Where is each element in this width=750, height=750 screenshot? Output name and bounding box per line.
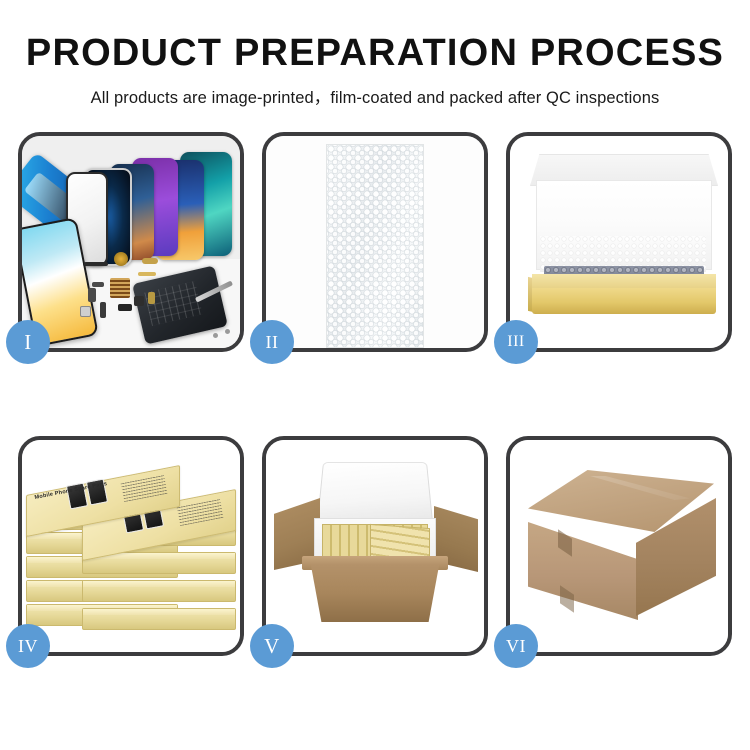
spare-part-screw-a-icon <box>225 329 230 334</box>
process-step-grid: I <box>0 132 750 656</box>
bubble-wrap-texture <box>327 145 423 347</box>
step-1-image <box>22 136 240 348</box>
box-lid-edge <box>83 581 235 587</box>
box-stack: Mobile Phone Spare Parts Mobile Phone Sp… <box>26 462 240 644</box>
process-step-panel-1[interactable]: I <box>18 132 244 352</box>
spare-part-bracket-icon <box>88 288 96 302</box>
step-6-image <box>510 440 728 652</box>
step-badge-4: IV <box>6 624 50 668</box>
spare-part-clip-icon <box>92 282 104 287</box>
page-title: PRODUCT PREPARATION PROCESS <box>0 34 750 74</box>
process-step-panel-3[interactable]: III <box>506 132 732 352</box>
step-badge-6: VI <box>494 624 538 668</box>
spare-part-tray-icon <box>80 306 91 317</box>
step-badge-2: II <box>250 320 294 364</box>
step-3-image <box>510 136 728 348</box>
spare-part-connector-icon <box>148 292 155 304</box>
spare-part-chip-icon <box>134 296 144 306</box>
step-2-image <box>266 136 484 348</box>
tray-front-face <box>532 288 716 314</box>
carton-body <box>308 564 442 622</box>
foam-lid <box>317 462 434 525</box>
step-badge-5: V <box>250 624 294 668</box>
spare-part-grid-icon <box>110 278 130 298</box>
spare-part-pin-icon <box>100 302 106 318</box>
spare-part-strip-icon <box>84 262 108 266</box>
page-subtitle: All products are image-printed，film-coat… <box>0 84 750 108</box>
step-badge-3: III <box>494 320 538 364</box>
spare-part-screw-b-icon <box>213 333 218 338</box>
stacked-box <box>82 580 236 602</box>
step-badge-1: I <box>6 320 50 364</box>
process-step-panel-4[interactable]: Mobile Phone Spare Parts Mobile Phone Sp… <box>18 436 244 656</box>
process-row-2: Mobile Phone Spare Parts Mobile Phone Sp… <box>18 436 732 656</box>
stacked-box <box>82 608 236 630</box>
box-lid-edge <box>83 609 235 615</box>
step-4-image: Mobile Phone Spare Parts Mobile Phone Sp… <box>22 440 240 652</box>
bubble-wrap-bag <box>326 144 424 348</box>
process-step-panel-2[interactable]: II <box>262 132 488 352</box>
spare-part-cable-icon <box>138 272 156 276</box>
spare-part-block-icon <box>118 304 132 311</box>
page-header: PRODUCT PREPARATION PROCESS All products… <box>0 0 750 108</box>
spare-part-gold-flex-icon <box>142 258 158 264</box>
step-5-image <box>266 440 484 652</box>
process-row-1: I <box>18 132 732 352</box>
process-step-panel-6[interactable]: VI <box>506 436 732 656</box>
process-step-panel-5[interactable]: V <box>262 436 488 656</box>
spare-part-speaker-icon <box>114 252 128 266</box>
